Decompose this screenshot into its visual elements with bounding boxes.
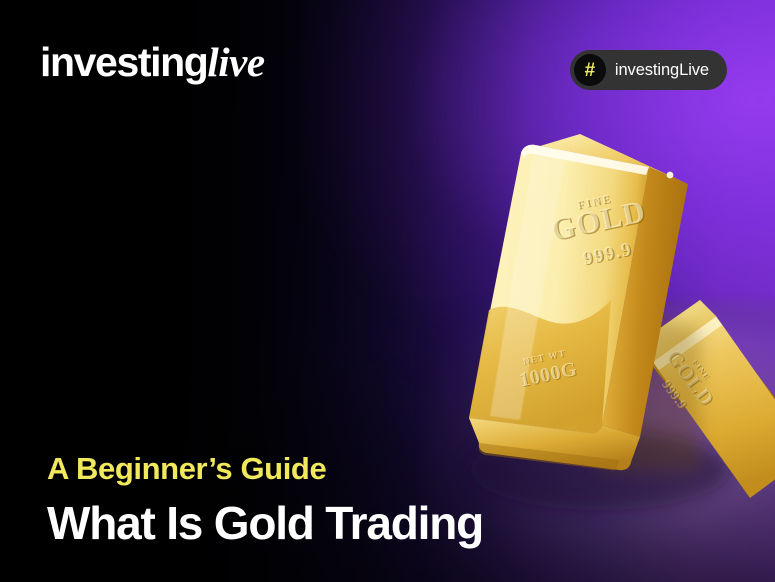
hashtag-badge[interactable]: # investingLive: [570, 50, 727, 90]
social-card: FINE GOLD 999.9 FINE GOLD 999.9: [0, 0, 775, 582]
hash-icon: #: [574, 54, 606, 86]
logo-text-live: live: [207, 42, 264, 83]
hash-symbol: #: [585, 61, 596, 80]
logo-text-investing: investing: [40, 42, 207, 83]
headline-block: A Beginner’s Guide What Is Gold Trading: [47, 453, 483, 546]
badge-label: investingLive: [615, 62, 709, 79]
page-title: What Is Gold Trading: [47, 500, 483, 546]
investinglive-logo[interactable]: investing live: [40, 42, 265, 83]
eyebrow-text: A Beginner’s Guide: [47, 453, 483, 484]
